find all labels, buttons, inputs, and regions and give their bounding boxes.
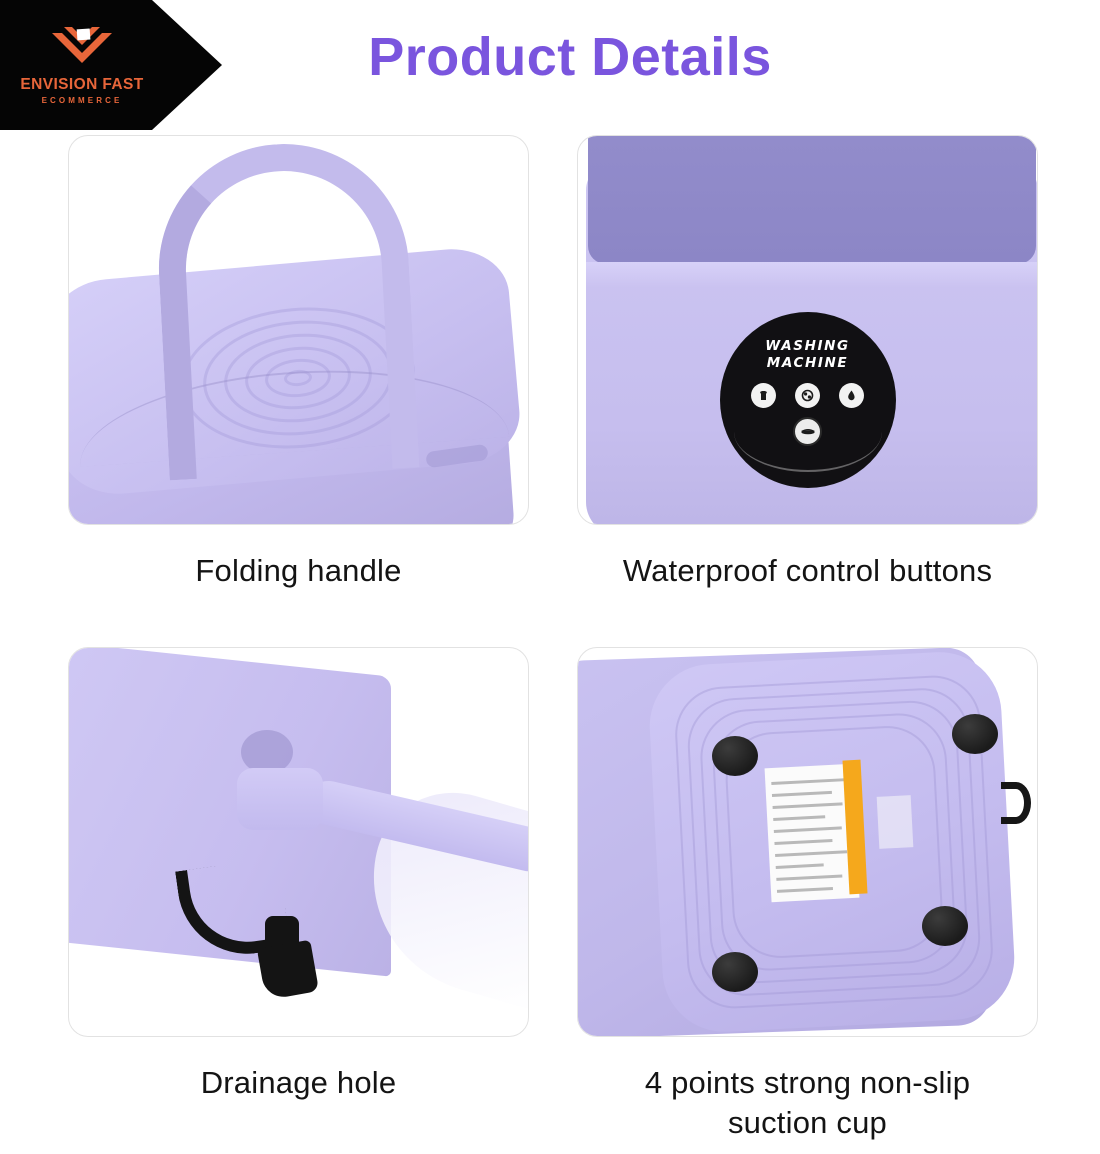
panel-brand-line-2: MACHINE (765, 355, 849, 372)
panel-button-row (751, 383, 864, 408)
wash-mode-button[interactable] (751, 383, 776, 408)
secondary-label (877, 795, 914, 849)
suction-cup-foot (712, 736, 758, 776)
suction-cup-foot (922, 906, 968, 946)
feature-cell-control-buttons: WASHING MACHINE (577, 135, 1038, 647)
spin-mode-button[interactable] (795, 383, 820, 408)
feature-caption: Waterproof control buttons (623, 551, 992, 591)
page-title: Product Details (0, 26, 1100, 88)
machine-rim (586, 262, 1038, 288)
suction-cup-foot (952, 714, 998, 754)
drain-plug-body (257, 940, 319, 1001)
panel-bottom-arc (734, 432, 882, 472)
side-clip (1001, 782, 1031, 824)
feature-grid: Folding handle WASHING MACHINE (0, 130, 1100, 1149)
feature-cell-suction-cup: 4 points strong non-slip suction cup (577, 647, 1038, 1154)
drain-spout (237, 768, 323, 830)
folding-handle-shading (153, 138, 420, 481)
brand-subtitle: ECOMMERCE (42, 97, 123, 105)
panel-brand-line-1: WASHING (765, 338, 849, 355)
feature-cell-drainage-hole: Drainage hole (68, 647, 529, 1154)
suction-cup-foot (712, 952, 758, 992)
feature-caption: Drainage hole (201, 1063, 397, 1103)
panel-brand-text: WASHING MACHINE (765, 338, 849, 372)
drain-mode-button[interactable] (839, 383, 864, 408)
machine-top-lid (588, 136, 1036, 264)
page-header: ENVISION FAST ECOMMERCE Product Details (0, 0, 1100, 130)
feature-caption-line-2: suction cup (728, 1105, 887, 1140)
feature-caption: 4 points strong non-slip suction cup (645, 1063, 970, 1142)
feature-image-suction-cup (577, 647, 1038, 1037)
control-panel: WASHING MACHINE (720, 312, 896, 488)
feature-image-drainage-hole (68, 647, 529, 1037)
feature-cell-folding-handle: Folding handle (68, 135, 529, 647)
feature-image-control-buttons: WASHING MACHINE (577, 135, 1038, 525)
feature-caption-line-1: 4 points strong non-slip (645, 1065, 970, 1100)
feature-image-folding-handle (68, 135, 529, 525)
feature-caption: Folding handle (195, 551, 401, 591)
